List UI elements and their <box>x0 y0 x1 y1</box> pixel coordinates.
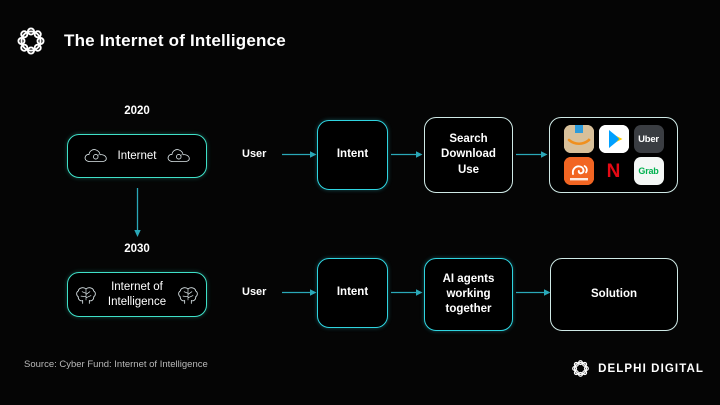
year-label-2020: 2020 <box>67 105 207 117</box>
action-line-1: Search <box>441 132 496 147</box>
action-box-top[interactable]: Search Download Use <box>424 117 513 193</box>
alibaba-app-icon[interactable] <box>564 157 594 185</box>
era-label-intelligence: Internet of Intelligence <box>108 280 166 310</box>
user-label-top: User <box>242 148 266 160</box>
action-line-1: AI agents <box>443 272 495 287</box>
era-box-internet[interactable]: Internet <box>67 134 207 178</box>
grab-app-icon[interactable]: Grab <box>634 157 664 185</box>
era-label-internet: Internet <box>118 149 157 164</box>
cloud-sync-icon <box>83 146 109 166</box>
arrow-action-to-outcome-top <box>516 150 549 159</box>
brand-name: DELPHI DIGITAL <box>598 363 704 375</box>
arrow-intent-to-action-bottom <box>391 288 424 297</box>
brain-icon <box>73 285 99 305</box>
grab-app-label: Grab <box>638 166 658 176</box>
uber-app-icon[interactable]: Uber <box>634 125 664 153</box>
google-play-app-icon[interactable] <box>599 125 629 153</box>
action-label-bottom: AI agents working together <box>443 272 495 318</box>
cloud-sync-icon <box>166 146 192 166</box>
solution-label: Solution <box>591 287 637 302</box>
uber-app-label: Uber <box>638 134 659 145</box>
netflix-app-icon[interactable]: N <box>599 157 629 185</box>
intent-box-top[interactable]: Intent <box>317 120 388 190</box>
arrow-action-to-solution <box>516 288 552 297</box>
netflix-app-label: N <box>607 162 621 181</box>
era-line-2: Intelligence <box>108 295 166 310</box>
arrow-user-to-intent-bottom <box>282 288 318 297</box>
user-label-bottom: User <box>242 286 266 298</box>
brain-icon <box>175 285 201 305</box>
slide-header: The Internet of Intelligence <box>14 24 286 58</box>
era-line-1: Internet of <box>108 280 166 295</box>
action-line-2: working <box>443 287 495 302</box>
delphi-ring-icon <box>14 24 48 58</box>
action-label-top: Search Download Use <box>441 132 496 178</box>
page-title: The Internet of Intelligence <box>64 31 286 51</box>
arrow-era-transition <box>132 188 143 240</box>
slide-canvas: The Internet of Intelligence 2020 Intern… <box>0 0 720 405</box>
arrow-intent-to-action-top <box>391 150 424 159</box>
intent-label-top: Intent <box>337 147 368 162</box>
arrow-user-to-intent-top <box>282 150 318 159</box>
action-line-2: Download <box>441 147 496 162</box>
intent-box-bottom[interactable]: Intent <box>317 258 388 328</box>
intent-label-bottom: Intent <box>337 285 368 300</box>
era-box-internet-of-intelligence[interactable]: Internet of Intelligence <box>67 272 207 317</box>
brand-lockup: DELPHI DIGITAL <box>570 358 704 379</box>
delphi-ring-icon <box>570 358 591 379</box>
amazon-app-icon[interactable] <box>564 125 594 153</box>
action-line-3: Use <box>441 163 496 178</box>
year-label-2030: 2030 <box>67 243 207 255</box>
app-icon-grid-box[interactable]: Uber N Grab <box>549 117 678 193</box>
action-line-3: together <box>443 302 495 317</box>
source-caption: Source: Cyber Fund: Internet of Intellig… <box>24 359 208 370</box>
action-box-bottom[interactable]: AI agents working together <box>424 258 513 331</box>
app-icon-grid: Uber N Grab <box>564 125 664 185</box>
solution-box[interactable]: Solution <box>550 258 678 331</box>
